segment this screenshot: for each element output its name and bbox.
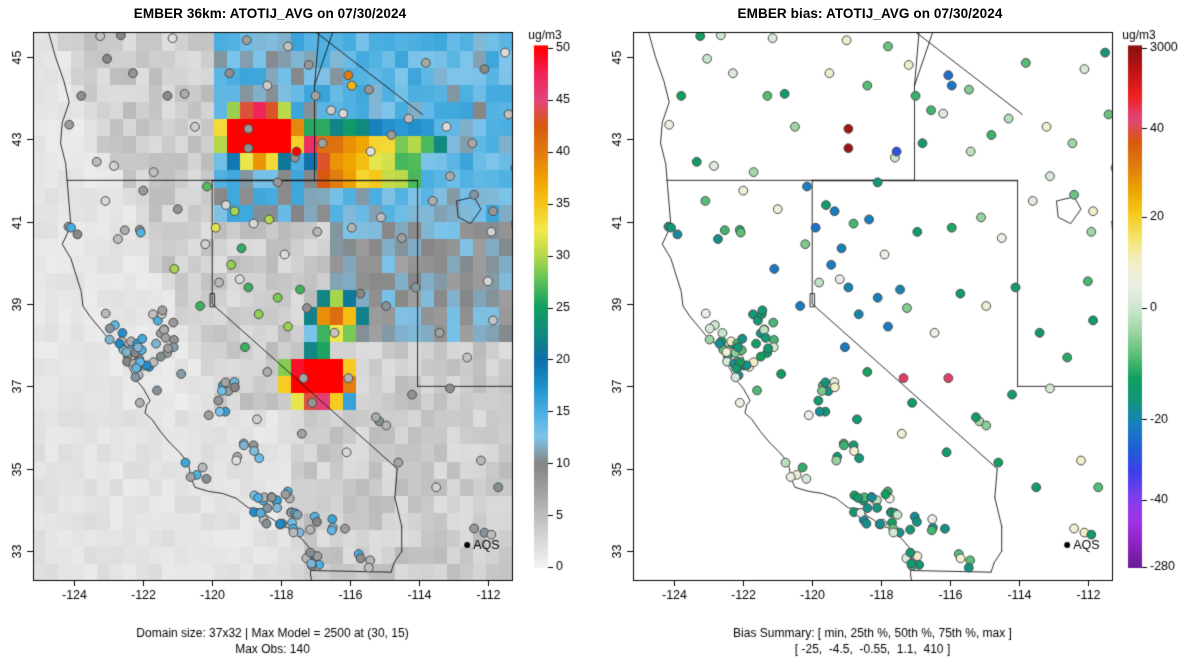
panel-model: EMBER 36km: ATOTIJ_AVG on 07/30/2024: [0, 0, 600, 672]
figure-root: EMBER 36km: ATOTIJ_AVG on 07/30/2024 EMB…: [0, 0, 1200, 672]
panel-bias: EMBER bias: ATOTIJ_AVG on 07/30/2024: [600, 0, 1200, 672]
bias-map-canvas[interactable]: [600, 0, 1200, 672]
model-map-canvas[interactable]: [0, 0, 600, 672]
